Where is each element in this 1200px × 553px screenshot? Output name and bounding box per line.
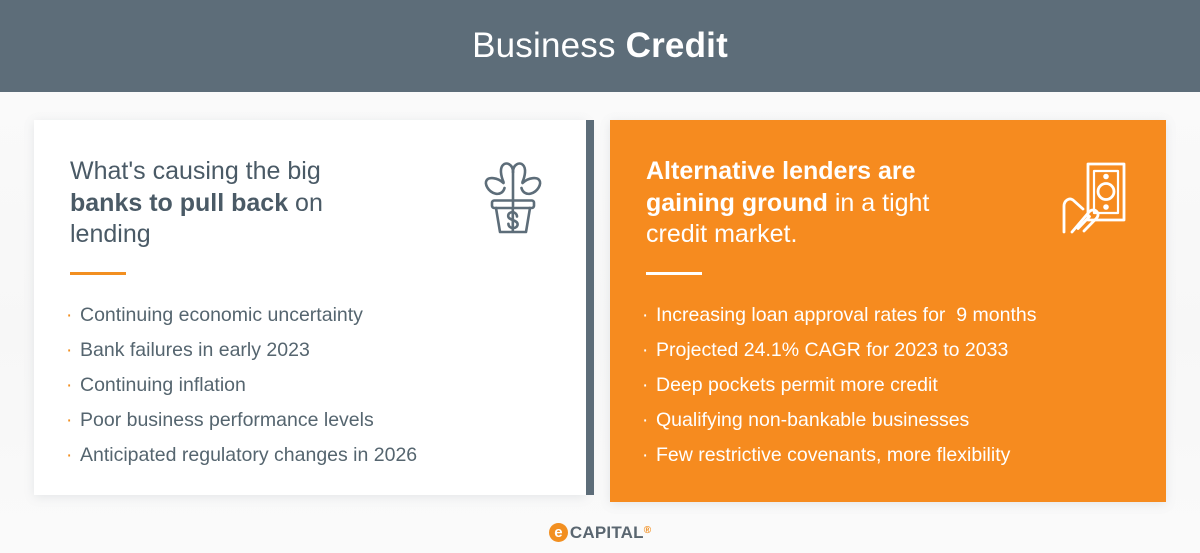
left-heading-bold: banks to pull back (70, 189, 288, 217)
ecapital-logo: e CAPITAL ® (549, 523, 651, 543)
list-item: ·Few restrictive covenants, more flexibi… (642, 438, 1150, 473)
bullet-text: Qualifying non-bankable businesses (656, 403, 969, 437)
list-item: ·Deep pockets permit more credit (642, 368, 1150, 403)
bullet-text: Continuing inflation (80, 368, 246, 402)
cards-container: What's causing the big banks to pull bac… (0, 92, 1200, 512)
header-band: Business Credit (0, 0, 1200, 92)
list-item: ·Anticipated regulatory changes in 2026 (66, 438, 570, 473)
right-card-header: Alternative lenders are gaining ground i… (646, 156, 1146, 251)
bullet-text: Deep pockets permit more credit (656, 368, 938, 402)
right-card-divider (646, 272, 702, 275)
card-accent-bar (586, 120, 594, 495)
page-title: Business Credit (472, 26, 728, 66)
money-plant-icon (476, 160, 550, 241)
bullet-text: Few restrictive covenants, more flexibil… (656, 438, 1010, 472)
logo-registered-mark: ® (644, 525, 651, 536)
bullet-marker: · (642, 404, 656, 438)
infographic-canvas: Business Credit What's causing the big b… (0, 0, 1200, 553)
list-item: ·Projected 24.1% CAGR for 2023 to 2033 (642, 333, 1150, 368)
page-title-bold: Credit (626, 26, 728, 65)
hand-holding-cash-icon (1058, 160, 1130, 241)
bullet-text: Bank failures in early 2023 (80, 333, 310, 367)
list-item: ·Continuing economic uncertainty (66, 298, 570, 333)
bullet-marker: · (642, 299, 656, 333)
bullet-marker: · (642, 439, 656, 473)
bullet-marker: · (66, 369, 80, 403)
bullet-marker: · (642, 369, 656, 403)
left-card-divider (70, 272, 126, 275)
logo-e-mark-icon: e (549, 523, 568, 542)
list-item: ·Bank failures in early 2023 (66, 333, 570, 368)
bullet-marker: · (642, 334, 656, 368)
left-card-heading: What's causing the big banks to pull bac… (70, 156, 323, 251)
bullet-marker: · (66, 299, 80, 333)
list-item: ·Increasing loan approval rates for 9 mo… (642, 298, 1150, 333)
bullet-marker: · (66, 439, 80, 473)
bullet-text: Continuing economic uncertainty (80, 298, 363, 332)
bullet-text: Increasing loan approval rates for 9 mon… (656, 298, 1036, 332)
left-heading-light-1: What's causing the big (70, 157, 321, 185)
list-item: ·Poor business performance levels (66, 403, 570, 438)
right-card-heading: Alternative lenders are gaining ground i… (646, 156, 929, 251)
footer: e CAPITAL ® (0, 512, 1200, 553)
bullet-text: Anticipated regulatory changes in 2026 (80, 438, 417, 472)
left-card-header: What's causing the big banks to pull bac… (70, 156, 566, 251)
page-title-light: Business (472, 26, 626, 65)
list-item: ·Qualifying non-bankable businesses (642, 403, 1150, 438)
left-card-bullet-list: ·Continuing economic uncertainty ·Bank f… (66, 298, 570, 473)
right-card-bullet-list: ·Increasing loan approval rates for 9 mo… (642, 298, 1150, 473)
left-card: What's causing the big banks to pull bac… (34, 120, 586, 495)
bullet-text: Poor business performance levels (80, 403, 374, 437)
right-card: Alternative lenders are gaining ground i… (610, 120, 1166, 502)
logo-wordmark: CAPITAL (570, 523, 644, 543)
bullet-marker: · (66, 404, 80, 438)
bullet-text: Projected 24.1% CAGR for 2023 to 2033 (656, 333, 1008, 367)
bullet-marker: · (66, 334, 80, 368)
list-item: ·Continuing inflation (66, 368, 570, 403)
